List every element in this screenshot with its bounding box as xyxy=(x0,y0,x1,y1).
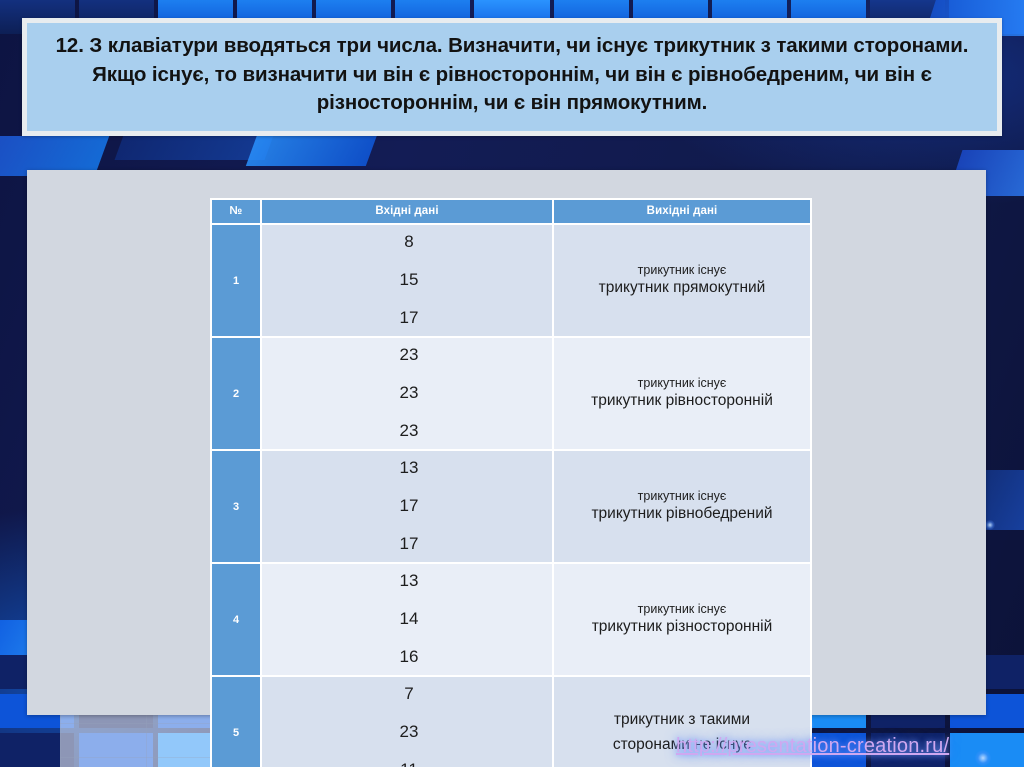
input-value: 14 xyxy=(400,610,419,627)
output-line-secondary: трикутник рівнобедрений xyxy=(564,504,800,525)
input-values-cell: 131416 xyxy=(262,564,552,675)
output-line-primary: трикутник існує xyxy=(564,375,800,392)
title-frame: 12. З клавіатури вводяться три числа. Ви… xyxy=(22,18,1002,136)
table-header-row: № Вхідні дані Вихідні дані xyxy=(212,200,810,223)
output-line-primary: трикутник з такими xyxy=(564,708,800,732)
table-row: 181517трикутник існуєтрикутник прямокутн… xyxy=(212,225,810,336)
output-text-cell: трикутник існуєтрикутник різносторонній xyxy=(554,564,810,675)
input-value: 13 xyxy=(400,572,419,589)
input-value-list: 72311 xyxy=(262,685,552,767)
input-value: 23 xyxy=(400,384,419,401)
input-value: 8 xyxy=(404,233,413,250)
input-value-list: 131416 xyxy=(262,572,552,665)
input-value: 23 xyxy=(400,723,419,740)
column-header-num: № xyxy=(212,200,260,223)
row-number-cell: 4 xyxy=(212,564,260,675)
slide-canvas: 12. З клавіатури вводяться три числа. Ви… xyxy=(0,0,1024,767)
table-row: 4131416трикутник існуєтрикутник різносто… xyxy=(212,564,810,675)
slide-title: 12. З клавіатури вводяться три числа. Ви… xyxy=(49,32,975,118)
watermark-link[interactable]: http://presentation-creation.ru/ xyxy=(676,735,949,758)
input-values-cell: 232323 xyxy=(262,338,552,449)
output-line-primary: трикутник існує xyxy=(564,262,800,279)
glow-dot-b xyxy=(975,750,991,766)
input-value-list: 81517 xyxy=(262,233,552,326)
output-line-secondary: трикутник рівносторонній xyxy=(564,391,800,412)
table-body: 181517трикутник існуєтрикутник прямокутн… xyxy=(212,225,810,767)
input-value-list: 232323 xyxy=(262,346,552,439)
input-value: 15 xyxy=(400,271,419,288)
output-line-primary: трикутник існує xyxy=(564,488,800,505)
input-value: 7 xyxy=(404,685,413,702)
input-value: 16 xyxy=(400,648,419,665)
row-number-cell: 2 xyxy=(212,338,260,449)
input-value: 23 xyxy=(400,422,419,439)
input-value: 17 xyxy=(400,309,419,326)
output-line-primary: трикутник існує xyxy=(564,601,800,618)
glow-dot-c xyxy=(985,520,995,530)
input-value: 13 xyxy=(400,459,419,476)
table-head: № Вхідні дані Вихідні дані xyxy=(212,200,810,223)
column-header-output: Вихідні дані xyxy=(554,200,810,223)
output-line-secondary: трикутник різносторонній xyxy=(564,617,800,638)
output-line-secondary: трикутник прямокутний xyxy=(564,278,800,299)
input-value: 17 xyxy=(400,497,419,514)
input-values-cell: 81517 xyxy=(262,225,552,336)
input-values-cell: 72311 xyxy=(262,677,552,767)
output-text-cell: трикутник існуєтрикутник прямокутний xyxy=(554,225,810,336)
input-value: 11 xyxy=(400,761,418,767)
input-values-cell: 131717 xyxy=(262,451,552,562)
table-row: 3131717трикутник існуєтрикутник рівнобед… xyxy=(212,451,810,562)
decor-slab-left-c xyxy=(246,132,378,166)
output-text-cell: трикутник існуєтрикутник рівносторонній xyxy=(554,338,810,449)
output-text-cell: трикутник існуєтрикутник рівнобедрений xyxy=(554,451,810,562)
input-value-list: 131717 xyxy=(262,459,552,552)
row-number-cell: 5 xyxy=(212,677,260,767)
results-table: № Вхідні дані Вихідні дані 181517трикутн… xyxy=(210,198,812,767)
input-value: 17 xyxy=(400,535,419,552)
title-background: 12. З клавіатури вводяться три числа. Ви… xyxy=(27,23,997,131)
input-value: 23 xyxy=(400,346,419,363)
column-header-input: Вхідні дані xyxy=(262,200,552,223)
table-row: 2232323трикутник існуєтрикутник рівносто… xyxy=(212,338,810,449)
row-number-cell: 3 xyxy=(212,451,260,562)
row-number-cell: 1 xyxy=(212,225,260,336)
